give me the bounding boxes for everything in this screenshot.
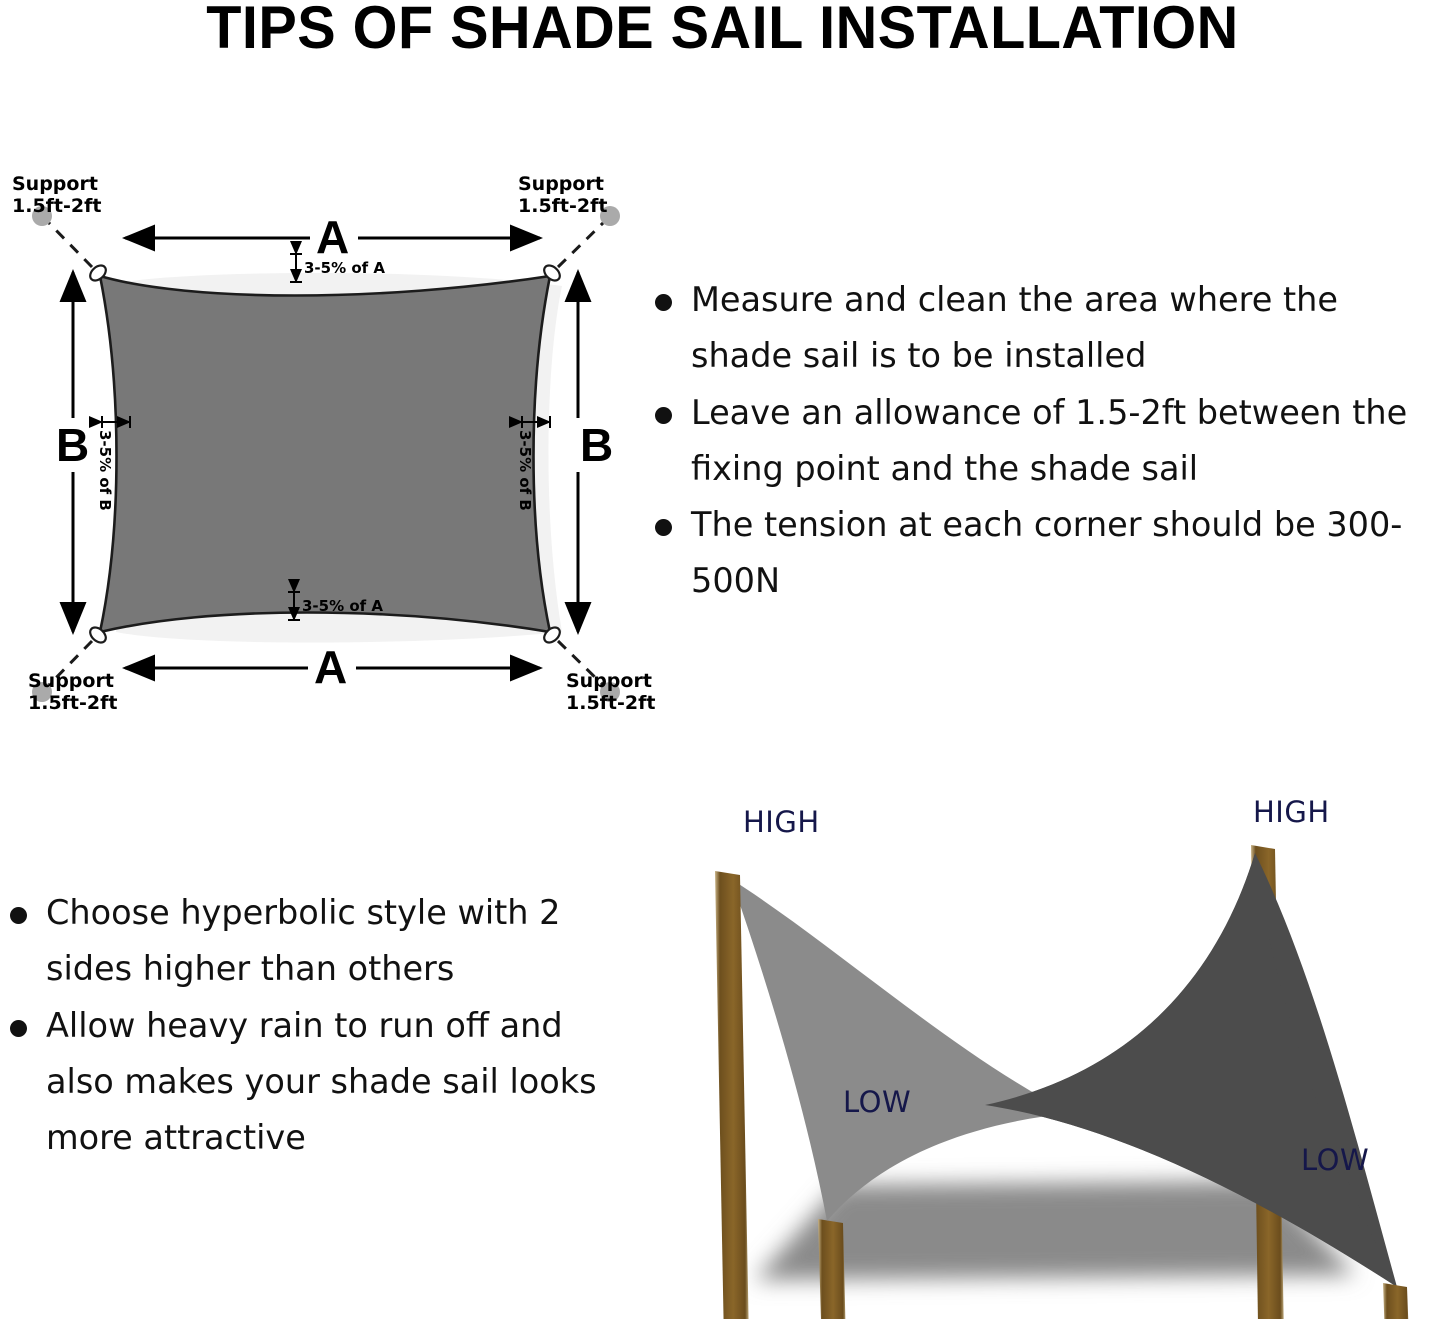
list-item: Allow heavy rain to run off and also mak… [0, 998, 630, 1167]
support-label-bottom-left: Support 1.5ft-2ft [28, 671, 117, 714]
support-label-line1: Support [12, 173, 98, 195]
support-label-line2: 1.5ft-2ft [28, 692, 117, 714]
support-label-top-left: Support 1.5ft-2ft [12, 174, 101, 217]
hyperbolic-sail-svg [655, 775, 1445, 1319]
installation-tips-list-top: Measure and clean the area where the sha… [645, 272, 1445, 610]
sail-half-light [731, 879, 1071, 1221]
list-item: The tension at each corner should be 300… [645, 497, 1445, 610]
curve-label-right: 3-5% of B [517, 430, 532, 511]
dimension-label-b-right: B [580, 422, 613, 468]
label-low-left: LOW [843, 1085, 911, 1119]
hyperbolic-sail-diagram: HIGH HIGH LOW LOW [655, 775, 1445, 1319]
installation-tips-list-bottom: Choose hyperbolic style with 2 sides hig… [0, 885, 630, 1166]
dimension-label-a-bottom: A [314, 644, 347, 690]
sail-body [100, 276, 550, 632]
label-low-right: LOW [1301, 1143, 1369, 1177]
dimension-label-a-top: A [316, 214, 349, 260]
label-high-left: HIGH [743, 805, 820, 839]
support-label-line2: 1.5ft-2ft [518, 195, 607, 217]
list-item: Measure and clean the area where the sha… [645, 272, 1445, 385]
curve-label-bottom: 3-5% of A [302, 599, 383, 614]
support-label-line1: Support [28, 670, 114, 692]
curve-label-left: 3-5% of B [97, 430, 112, 511]
support-label-line1: Support [518, 173, 604, 195]
page-title: TIPS OF SHADE SAIL INSTALLATION [29, 0, 1416, 61]
support-label-line2: 1.5ft-2ft [566, 692, 655, 714]
support-label-top-right: Support 1.5ft-2ft [518, 174, 607, 217]
post-low-left [818, 1219, 847, 1319]
list-item: Leave an allowance of 1.5-2ft between th… [645, 385, 1445, 498]
dimension-label-b-left: B [56, 422, 89, 468]
post-high-left [715, 871, 750, 1319]
rectangular-sail-diagram: Support 1.5ft-2ft Support 1.5ft-2ft Supp… [0, 150, 660, 740]
curve-label-top: 3-5% of A [304, 261, 385, 276]
support-label-line1: Support [566, 670, 652, 692]
support-label-bottom-right: Support 1.5ft-2ft [566, 671, 655, 714]
support-label-line2: 1.5ft-2ft [12, 195, 101, 217]
post-low-right [1383, 1283, 1411, 1319]
list-item: Choose hyperbolic style with 2 sides hig… [0, 885, 630, 998]
label-high-right: HIGH [1253, 795, 1330, 829]
